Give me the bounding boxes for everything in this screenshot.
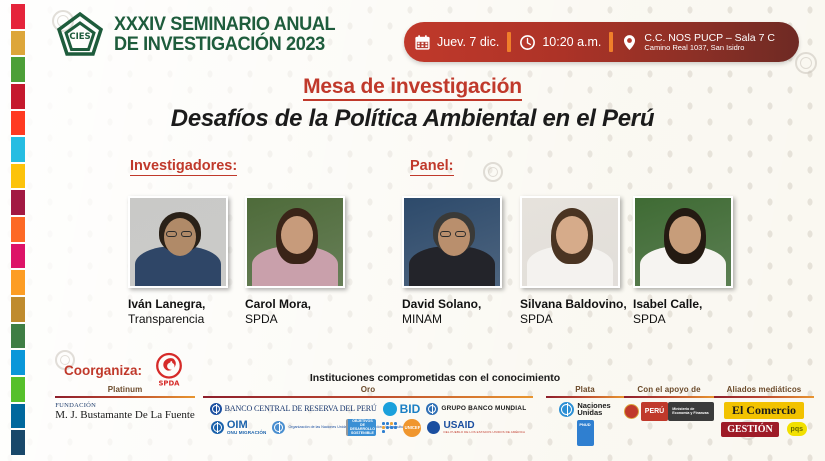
bid-swirl-icon (383, 402, 397, 416)
panel-heading: Panel: (410, 158, 454, 174)
logo-row: El Comercio (724, 402, 804, 419)
sponsor-tiers: Platinum FUNDACIÓN M. J. Bustamante De L… (0, 386, 825, 461)
dot-grid-icon (382, 422, 400, 433)
coorganiza-label: Coorganiza: (64, 363, 142, 378)
sponsor-logo-mef: Ministerio de Economía y Finanzas (668, 402, 714, 421)
poster-header: CIES XXXIV SEMINARIO ANUAL DE INVESTIGAC… (0, 0, 825, 66)
person-card: Carol Mora,SPDA (245, 196, 345, 327)
pill-separator (609, 32, 613, 52)
sponsor-logo-el-comercio: El Comercio (724, 402, 804, 419)
person-card: David Solano,MINAM (402, 196, 502, 327)
page-title: Desafíos de la Política Ambiental en el … (0, 105, 825, 133)
calendar-icon (414, 34, 431, 51)
tier-plata: Plata Naciones Unidas PNUD (546, 386, 624, 446)
sponsor-logo-line1: UNICEF (403, 419, 421, 437)
sponsor-logo-line1: pqs (791, 426, 803, 433)
sponsor-logo-ods: OBJETIVOS DE DESARROLLO SOSTENIBLE (346, 419, 376, 436)
tier-oro-label: Oro (203, 386, 533, 396)
person-org: SPDA (633, 312, 733, 327)
sponsor-logo-banco-mundial: GRUPO BANCO MUNDIAL (426, 403, 526, 415)
institutions-caption: Instituciones comprometidas con el conoc… (290, 372, 580, 384)
event-venue-segment: C.C. NOS PUCP – Sala 7 C Camino Real 103… (621, 32, 775, 53)
sponsor-logo-line2: Ministerio de Economía y Finanzas (672, 407, 710, 416)
venue-text-block: C.C. NOS PUCP – Sala 7 C Camino Real 103… (644, 32, 775, 53)
tier-aliados: Aliados mediáticos El Comercio GESTIÓN p… (714, 386, 814, 437)
sponsor-logo-line1: GRUPO BANCO MUNDIAL (441, 405, 526, 412)
person-org: SPDA (245, 312, 345, 327)
person-card: Isabel Calle,SPDA (633, 196, 733, 327)
seminar-title-line2: DE INVESTIGACIÓN 2023 (114, 35, 335, 55)
tier-apoyo: Con el apoyo de PERÚ Ministerio de Econo… (624, 386, 714, 421)
location-pin-icon (621, 34, 638, 51)
person-org: SPDA (520, 312, 627, 327)
person-photo (520, 196, 620, 288)
tier-platinum: Platinum FUNDACIÓN M. J. Bustamante De L… (55, 386, 195, 421)
logo-row: Naciones Unidas (559, 402, 610, 418)
spda-logo-icon: SPDA (152, 352, 186, 388)
investigadores-heading-text: Investigadores: (130, 158, 237, 176)
event-date-text: Juev. 7 dic. (437, 35, 499, 49)
person-org: MINAM (402, 312, 502, 327)
pill-separator (507, 32, 511, 52)
logo-row: FUNDACIÓN M. J. Bustamante De La Fuente (55, 402, 195, 421)
sponsor-logo-pqs: pqs (787, 422, 807, 436)
person-card: Silvana Baldovino,SPDA (520, 196, 627, 327)
escudo-peru-icon (624, 404, 639, 419)
person-name: Iván Lanegra, (128, 297, 228, 312)
person-card: Iván Lanegra,Transparencia (128, 196, 228, 327)
venue-main-text: C.C. NOS PUCP – Sala 7 C (644, 32, 775, 44)
sponsor-logo-line2: DEL PUEBLO DE LOS ESTADOS UNIDOS DE AMÉR… (443, 431, 525, 434)
tier-platinum-label: Platinum (55, 386, 195, 396)
sponsor-logo-unicef: UNICEF (382, 419, 421, 437)
sponsor-logo-bid: BID (383, 402, 421, 416)
person-name: Carol Mora, (245, 297, 345, 312)
tier-platinum-logos: FUNDACIÓN M. J. Bustamante De La Fuente (55, 398, 195, 421)
sdg-color-block-7 (11, 164, 25, 189)
person-name: David Solano, (402, 297, 502, 312)
panel-heading-text: Panel: (410, 158, 454, 176)
sponsor-logo-line1: BANCO CENTRAL DE RESERVA DEL PERÚ (225, 404, 377, 413)
tier-oro-logos: BANCO CENTRAL DE RESERVA DEL PERÚ BID GR… (203, 398, 533, 437)
person-photo (128, 196, 228, 288)
cies-logo-block: CIES XXXIV SEMINARIO ANUAL DE INVESTIGAC… (55, 10, 352, 60)
sdg-color-block-14 (11, 350, 25, 375)
sponsor-logo-pnud: PNUD (577, 420, 594, 446)
investigadores-heading: Investigadores: (130, 158, 237, 174)
sponsor-logo-fundacion-bustamante: FUNDACIÓN M. J. Bustamante De La Fuente (55, 402, 195, 421)
person-photo (633, 196, 733, 288)
globe-icon (211, 421, 224, 434)
event-time-segment: 10:20 a.m. (519, 34, 601, 51)
sponsor-logo-line1: Organización de las Naciones Unidas para… (288, 425, 340, 429)
tier-apoyo-logos: PERÚ Ministerio de Economía y Finanzas (624, 398, 714, 421)
globe-icon (559, 402, 574, 417)
coorganiza-block: Coorganiza: SPDA (64, 352, 186, 388)
tier-aliados-logos: El Comercio GESTIÓN pqs (714, 398, 814, 437)
seminar-title: XXXIV SEMINARIO ANUAL DE INVESTIGACIÓN 2… (114, 15, 352, 55)
sponsor-logo-line1: GESTIÓN (727, 424, 773, 435)
sponsor-logo-line1: OBJETIVOS DE DESARROLLO SOSTENIBLE (349, 420, 375, 436)
people-gallery: Iván Lanegra,TransparenciaCarol Mora,SPD… (0, 196, 825, 336)
person-name: Isabel Calle, (633, 297, 733, 312)
kicker-title: Mesa de investigación (0, 75, 825, 99)
sponsor-logo-usaid: USAID DEL PUEBLO DE LOS ESTADOS UNIDOS D… (427, 421, 525, 434)
logo-row: BANCO CENTRAL DE RESERVA DEL PERÚ BID GR… (210, 402, 527, 416)
sponsor-logo-bcrp: BANCO CENTRAL DE RESERVA DEL PERÚ (210, 403, 377, 415)
person-photo (402, 196, 502, 288)
event-date-segment: Juev. 7 dic. (414, 34, 499, 51)
sponsor-logo-line1: PERÚ (645, 408, 664, 415)
usaid-emblem-icon (427, 421, 440, 434)
sdg-color-block-6 (11, 137, 25, 162)
sponsor-logo-naciones-unidas: Naciones Unidas (559, 402, 610, 418)
sponsor-logo-line2: ONU MIGRACIÓN (227, 431, 267, 436)
poster-canvas: CIES XXXIV SEMINARIO ANUAL DE INVESTIGAC… (0, 0, 825, 461)
tier-apoyo-label: Con el apoyo de (624, 386, 714, 396)
person-photo (245, 196, 345, 288)
sponsor-logo-fao: Organización de las Naciones Unidas para… (272, 421, 340, 434)
kicker-title-text: Mesa de investigación (303, 75, 522, 101)
svg-text:CIES: CIES (69, 32, 90, 42)
sponsor-logo-line1: PNUD (579, 422, 590, 427)
globe-icon (426, 403, 438, 415)
sponsor-logo-peru: PERÚ (641, 402, 668, 421)
sponsor-logo-gestion: GESTIÓN (721, 422, 779, 437)
sponsor-logo-line1: FUNDACIÓN (55, 402, 195, 409)
sponsor-logo-oim: OIM ONU MIGRACIÓN (211, 420, 267, 436)
person-name: Silvana Baldovino, (520, 297, 627, 312)
event-info-pill: Juev. 7 dic. 10:20 a.m. C.C. NOS PUC (404, 22, 799, 62)
venue-sub-text: Camino Real 1037, San Isidro (644, 44, 775, 53)
clock-icon (519, 34, 536, 51)
cies-pentagon-logo-icon: CIES (55, 10, 105, 60)
tier-oro: Oro BANCO CENTRAL DE RESERVA DEL PERÚ BI… (203, 386, 533, 437)
sponsor-logo-line1: El Comercio (732, 403, 796, 418)
sponsor-logo-line2: M. J. Bustamante De La Fuente (55, 409, 195, 421)
tier-plata-logos: Naciones Unidas PNUD (546, 398, 624, 447)
tier-aliados-label: Aliados mediáticos (714, 386, 814, 396)
event-time-text: 10:20 a.m. (542, 35, 601, 49)
logo-row: OIM ONU MIGRACIÓN Organización de las Na… (211, 419, 525, 437)
globe-icon (210, 403, 222, 415)
sponsor-logo-line1: BID (400, 402, 421, 416)
sponsor-logo-line2: Unidas (577, 409, 610, 417)
tier-plata-label: Plata (546, 386, 624, 396)
logo-row: PERÚ Ministerio de Economía y Finanzas (624, 402, 714, 421)
globe-icon (272, 421, 285, 434)
watermark-ring (483, 162, 503, 182)
person-org: Transparencia (128, 312, 228, 327)
logo-row: GESTIÓN pqs (721, 422, 807, 437)
logo-row: PNUD (577, 420, 594, 446)
